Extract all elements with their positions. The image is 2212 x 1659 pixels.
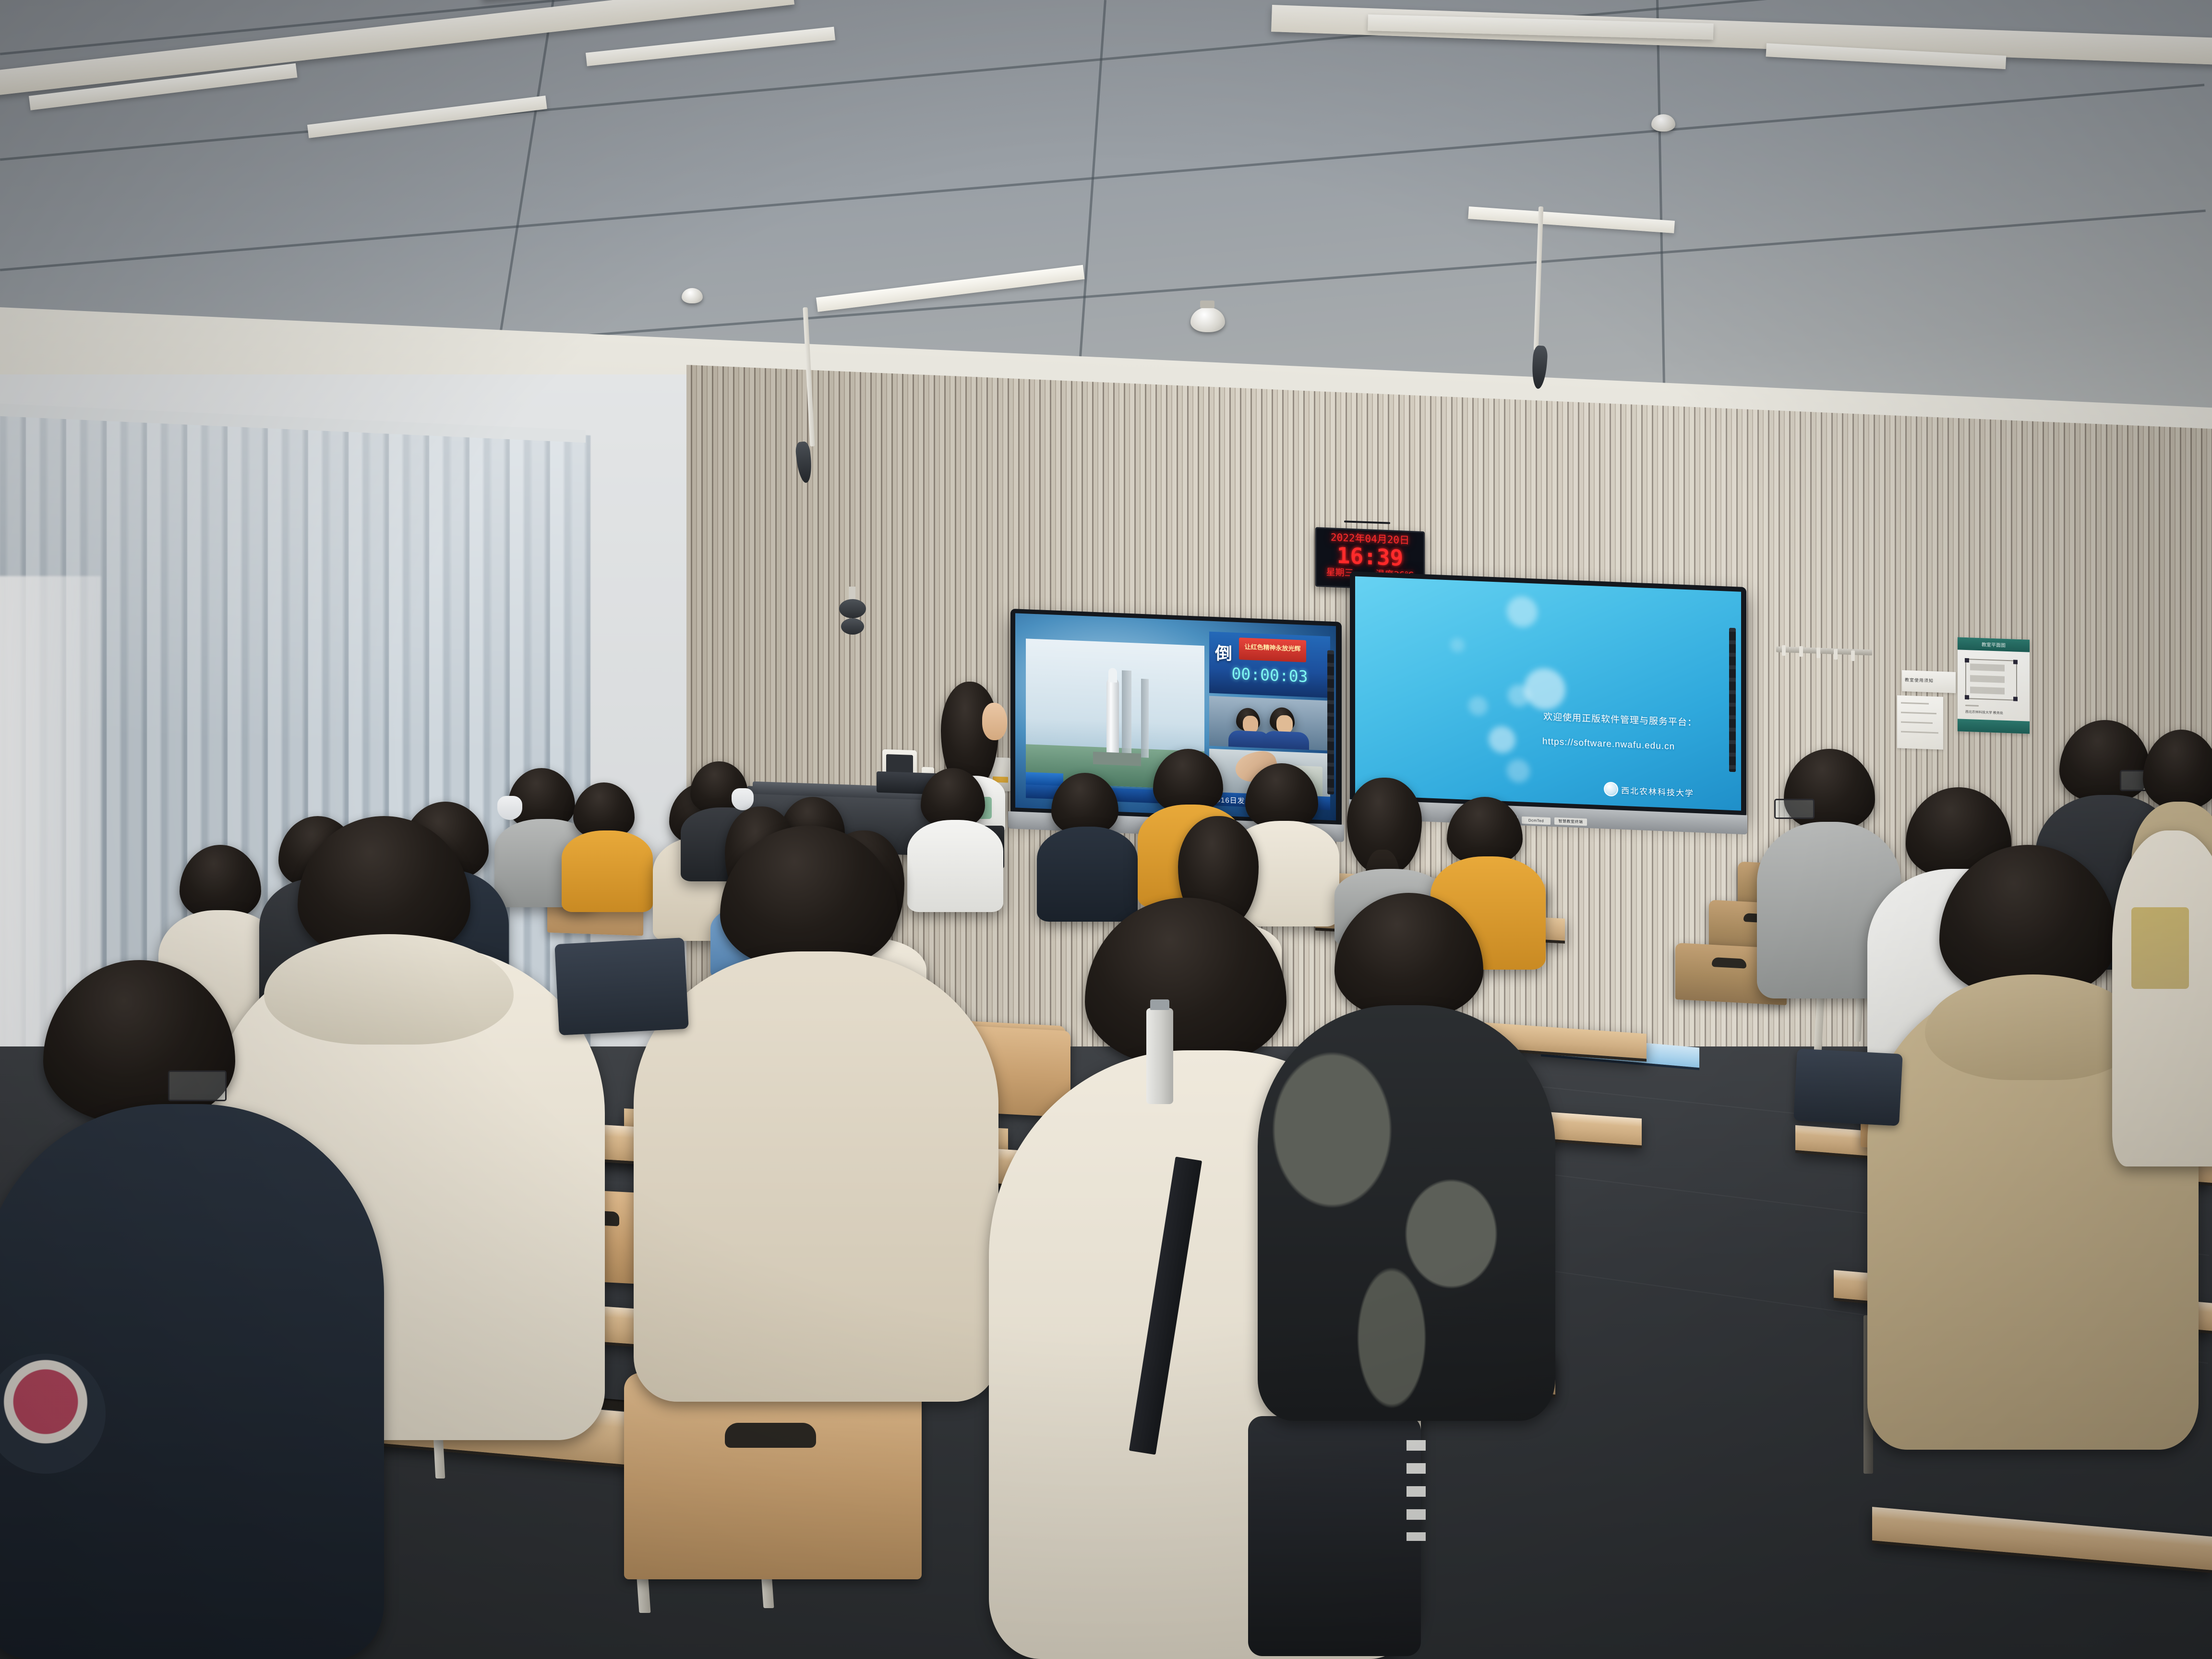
ceiling-light <box>586 27 835 66</box>
countdown-banner-text: 让红色精神永放光辉 <box>1239 641 1306 653</box>
notice-footer-text: 西北农林科技大学 教务处 <box>1965 709 2023 716</box>
student-hair <box>1447 797 1523 865</box>
bokeh-circle <box>1508 684 1530 707</box>
coat-hook-icon <box>1782 645 1786 656</box>
student-hair <box>2143 730 2212 809</box>
welcome-content: 欢迎使用正版软件管理与服务平台： https://software.nwafu.… <box>1355 576 1741 810</box>
coat-hook-icon <box>1799 646 1803 657</box>
launch-tower <box>1122 670 1131 757</box>
university-logo-block: 西北农林科技大学 <box>1604 780 1741 802</box>
wall-camera-icon <box>841 618 864 635</box>
seating-plan-notice[interactable]: 教室平面图 西北农林科技大学 教务处 <box>1958 637 2030 733</box>
chair[interactable] <box>624 1373 922 1579</box>
student-hair <box>1334 893 1483 1019</box>
student-hair <box>720 826 898 970</box>
display-label-right: 智慧教室终端 <box>1554 817 1587 826</box>
ceiling-light <box>1468 206 1675 233</box>
shirt-print <box>2131 907 2189 989</box>
classroom-photo: 教室平面图 西北农林科技大学 教务处 教室使用须知 2022年04月20日 <box>0 0 2212 1659</box>
ceiling-light <box>816 265 1084 312</box>
smoke-detector-icon <box>682 288 703 303</box>
coat-hook-icon <box>1851 650 1855 661</box>
eyeglasses <box>168 1070 227 1101</box>
seating-plan-diagram <box>1965 659 2017 701</box>
coat-hook-icon <box>1834 649 1838 660</box>
countdown-banner: 让红色精神永放光辉 <box>1239 637 1306 662</box>
student-hair <box>1085 898 1286 1066</box>
trouser-stripe <box>1407 1440 1426 1541</box>
bokeh-circle <box>1450 637 1465 652</box>
paper-text-line <box>1901 702 1929 705</box>
paper-text-line <box>1901 721 1933 724</box>
eyeglasses <box>1774 799 1815 819</box>
notice-footer-bar <box>1958 719 2030 733</box>
bokeh-circle <box>1507 759 1530 783</box>
rocket-icon <box>1106 677 1119 759</box>
smoke-detector-icon <box>1651 114 1675 132</box>
launch-tower <box>1141 679 1149 758</box>
plan-seat-row <box>1970 663 2005 672</box>
ap-mount <box>1200 301 1214 308</box>
welcome-line: 欢迎使用正版软件管理与服务平台： <box>1543 709 1697 729</box>
student-torso <box>1258 1005 1555 1421</box>
coat-hook-icon <box>1816 648 1820 658</box>
ceiling-light <box>307 96 547 138</box>
room-info-paper[interactable]: 教室使用须知 <box>1902 670 1956 693</box>
water-bottle[interactable] <box>1146 1008 1173 1104</box>
control-room-pane <box>1209 696 1330 751</box>
university-seal-icon <box>1604 781 1618 796</box>
paper-header-text: 教室使用须知 <box>1905 676 1953 684</box>
plan-corner-marker <box>1965 695 1969 699</box>
countdown-char: 倒 <box>1215 639 1232 665</box>
student-hair <box>1051 773 1118 835</box>
bokeh-circle <box>1507 596 1538 628</box>
trousers <box>1248 1416 1421 1656</box>
rocket-nose <box>1108 668 1117 683</box>
notice-header: 教室平面图 <box>1958 637 2030 652</box>
hoodie-hood <box>1925 974 2141 1080</box>
student-torso <box>2112 830 2212 1166</box>
welcome-url[interactable]: https://software.nwafu.edu.cn <box>1542 736 1675 752</box>
chair-cloud-cutout-icon <box>1712 957 1746 969</box>
paper-text-line <box>1901 731 1938 734</box>
presenter-face <box>982 703 1007 740</box>
countdown-pane: 倒 让红色精神永放光辉 00:00:03 <box>1209 632 1330 698</box>
university-name: 西北农林科技大学 <box>1621 784 1694 799</box>
paper-text-line <box>1901 712 1936 715</box>
plan-corner-marker <box>2013 697 2018 701</box>
student-right-fearless <box>2112 830 2212 1166</box>
operator-uniform <box>1263 731 1309 751</box>
notice-footer-line <box>1965 705 1979 707</box>
wall-camera-icon <box>839 599 866 618</box>
student-torso <box>634 951 998 1402</box>
plan-corner-marker <box>1965 658 1969 662</box>
chair-cloud-cutout-icon <box>725 1423 816 1448</box>
countdown-value: 00:00:03 <box>1219 663 1321 686</box>
notice-header-text: 教室平面图 <box>1958 639 2030 649</box>
ceiling-beam <box>1271 5 2212 67</box>
wifi-ap-icon <box>1190 307 1225 332</box>
bokeh-circle <box>1489 726 1515 754</box>
plan-seat-row <box>1970 675 2005 683</box>
bokeh-circle <box>1468 696 1488 716</box>
bokeh-circle <box>1524 668 1565 710</box>
plan-corner-marker <box>2013 660 2018 664</box>
bottle-cap <box>1150 999 1169 1010</box>
student-hair <box>1153 749 1223 813</box>
backpack[interactable] <box>1793 1048 1903 1126</box>
backpack[interactable] <box>554 938 689 1035</box>
student-foreground-navy <box>0 960 384 1659</box>
room-info-paper-lower[interactable] <box>1897 695 1943 749</box>
screen-side-keys[interactable] <box>1729 628 1736 772</box>
student-camo <box>1258 893 1555 1421</box>
launch-base <box>1093 752 1141 766</box>
plan-seat-row <box>1970 686 2005 695</box>
student-foreground-beige <box>634 826 998 1402</box>
